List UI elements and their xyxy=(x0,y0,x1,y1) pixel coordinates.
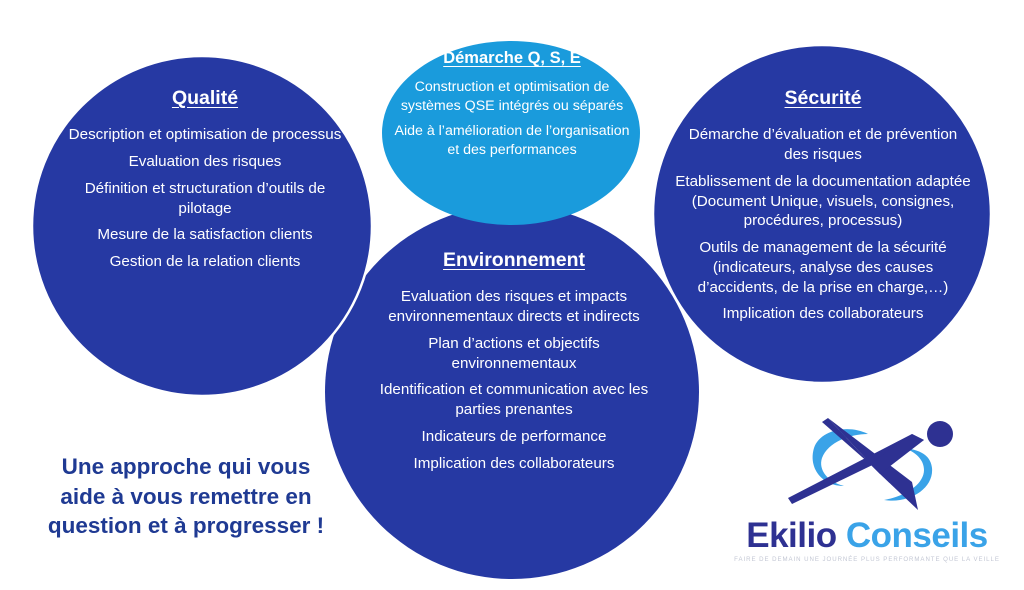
spacer xyxy=(60,245,350,252)
spacer xyxy=(390,115,634,122)
environnement-item: Evaluation des risques et impacts enviro… xyxy=(378,287,650,327)
environnement-title: Environnement xyxy=(378,248,650,273)
logo-wordmark: Ekilio Conseils xyxy=(728,516,1006,556)
environnement-item: Indicateurs de performance xyxy=(378,427,650,447)
qualite-item: Définition et structuration d’outils de … xyxy=(60,179,350,219)
spacer xyxy=(60,145,350,152)
spacer xyxy=(378,420,650,427)
environnement-item: Implication des collaborateurs xyxy=(378,454,650,474)
qualite-item: Evaluation des risques xyxy=(60,152,350,172)
spacer xyxy=(675,231,971,238)
tagline: Une approche qui vous aide à vous remett… xyxy=(36,452,336,541)
qualite-content: Qualité Description et optimisation de p… xyxy=(60,86,350,272)
qualite-item: Gestion de la relation clients xyxy=(60,252,350,272)
demarche-item: Construction et optimisation de systèmes… xyxy=(390,78,634,115)
environnement-item: Identification et communication avec les… xyxy=(378,380,650,420)
tagline-line-2: aide à vous remettre en xyxy=(36,482,336,512)
spacer xyxy=(378,447,650,454)
securite-item: Implication des collaborateurs xyxy=(675,304,971,324)
demarche-content: Démarche Q, S, E Construction et optimis… xyxy=(390,48,634,159)
spacer xyxy=(60,172,350,179)
logo-name-secondary: Conseils xyxy=(846,516,988,555)
demarche-item: Aide à l’amélioration de l’organisation … xyxy=(390,122,634,159)
tagline-line-3: question et à progresser ! xyxy=(36,511,336,541)
demarche-title: Démarche Q, S, E xyxy=(390,48,634,69)
spacer xyxy=(675,165,971,172)
infographic-canvas: Qualité Description et optimisation de p… xyxy=(0,0,1024,590)
logo[interactable]: Ekilio Conseils FAIRE DE DEMAIN UNE JOUR… xyxy=(728,412,1006,577)
qualite-title: Qualité xyxy=(60,86,350,111)
spacer xyxy=(378,373,650,380)
securite-content: Sécurité Démarche d’évaluation et de pré… xyxy=(675,86,971,324)
tagline-line-1: Une approche qui vous xyxy=(36,452,336,482)
text-layer: Qualité Description et optimisation de p… xyxy=(0,0,1024,590)
logo-slogan: FAIRE DE DEMAIN UNE JOURNÉE PLUS PERFORM… xyxy=(728,556,1006,563)
spacer xyxy=(675,297,971,304)
logo-name-primary: Ekilio xyxy=(746,516,836,555)
securite-item: Démarche d’évaluation et de prévention d… xyxy=(675,125,971,165)
qualite-item: Description et optimisation de processus xyxy=(60,125,350,145)
environnement-content: Environnement Evaluation des risques et … xyxy=(378,248,650,473)
securite-item: Outils de management de la sécurité (ind… xyxy=(675,238,971,297)
securite-item: Etablissement de la documentation adapté… xyxy=(675,172,971,231)
abstract-running-figure-icon xyxy=(784,412,964,516)
qualite-item: Mesure de la satisfaction clients xyxy=(60,225,350,245)
environnement-item: Plan d’actions et objectifs environnemen… xyxy=(378,334,650,374)
spacer xyxy=(60,218,350,225)
securite-title: Sécurité xyxy=(675,86,971,111)
spacer xyxy=(378,327,650,334)
